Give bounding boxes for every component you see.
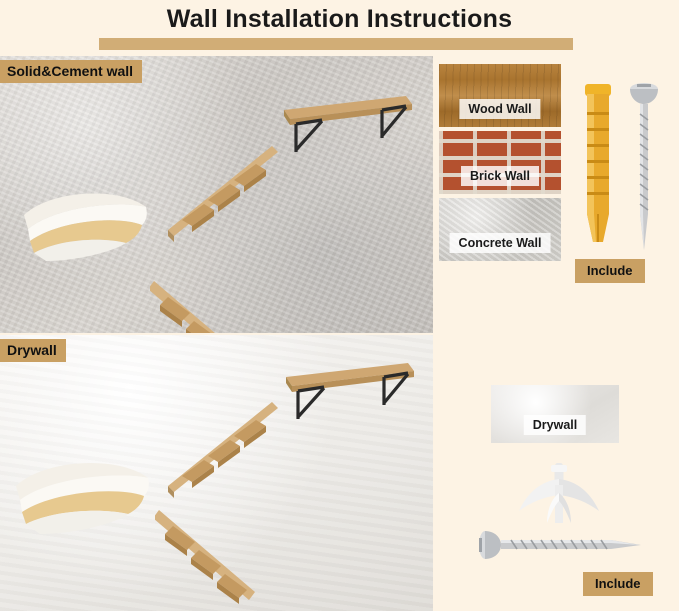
drywall-swatch-label: Drywall bbox=[524, 415, 586, 435]
materials-panel-top: Wood Wall Brick Wall Concrete Wall bbox=[435, 56, 679, 333]
cat-steps-lower-drywall bbox=[155, 500, 275, 610]
include-label-top: Include bbox=[575, 259, 645, 283]
screw-icon-top bbox=[627, 80, 661, 255]
yellow-wall-anchor-icon bbox=[577, 82, 619, 247]
curved-cat-shelf-bottom bbox=[10, 450, 155, 545]
concrete-wall-label: Concrete Wall bbox=[450, 233, 551, 253]
brick-wall-swatch: Brick Wall bbox=[439, 131, 561, 194]
drywall-photo bbox=[0, 335, 433, 611]
wood-wall-swatch: Wood Wall bbox=[439, 64, 561, 127]
page-title: Wall Installation Instructions bbox=[0, 5, 679, 34]
concrete-wall-swatch: Concrete Wall bbox=[439, 198, 561, 261]
wall-shelf-top bbox=[278, 86, 413, 161]
brick-wall-label: Brick Wall bbox=[461, 166, 539, 186]
cat-steps-upper bbox=[160, 134, 280, 244]
screw-icon-bottom bbox=[471, 527, 643, 563]
wall-shelf-bottom bbox=[280, 353, 415, 428]
toggle-anchor-icon bbox=[511, 463, 607, 527]
title-underline-accent bbox=[99, 38, 573, 50]
curved-cat-shelf-top bbox=[18, 181, 153, 271]
materials-panel-bottom: Drywall Include bbox=[435, 335, 679, 611]
cat-steps-lower bbox=[150, 271, 270, 333]
solid-cement-wall-chip: Solid&Cement wall bbox=[0, 60, 142, 83]
drywall-chip: Drywall bbox=[0, 339, 66, 362]
title-bar: Wall Installation Instructions bbox=[0, 0, 679, 52]
wood-wall-label: Wood Wall bbox=[459, 99, 540, 119]
solid-cement-wall-photo bbox=[0, 56, 433, 333]
cat-steps-upper-drywall bbox=[160, 390, 280, 500]
drywall-swatch: Drywall bbox=[491, 385, 619, 443]
include-label-bottom: Include bbox=[583, 572, 653, 596]
